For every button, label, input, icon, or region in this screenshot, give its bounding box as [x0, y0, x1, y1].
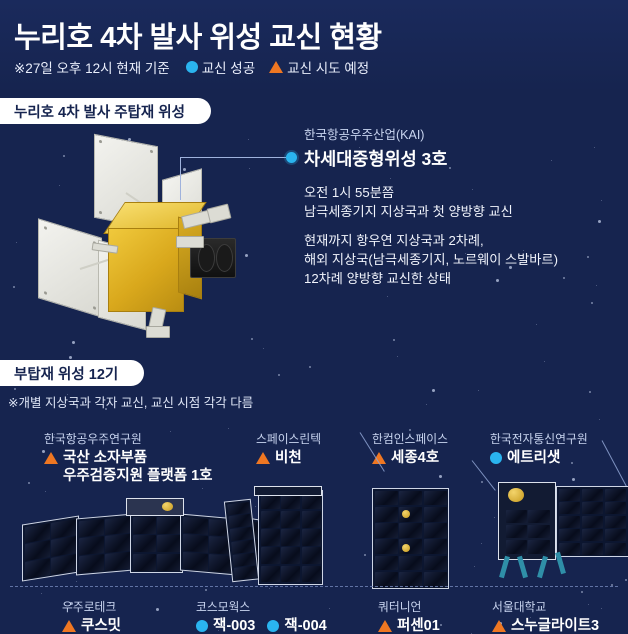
- sub-payload-note: ※개별 지상국과 각자 교신, 교신 시점 각각 다름: [8, 392, 253, 411]
- star: [269, 588, 270, 589]
- sub-name-kari: 국산 소자부품우주검증지원 플랫폼 1호: [63, 449, 213, 485]
- legend-planned-label: 교신 시도 예정: [287, 57, 369, 77]
- star: [76, 581, 77, 582]
- marker-triangle-icon-snuglite3: [492, 620, 506, 632]
- star: [478, 390, 479, 391]
- leader-line-etrisat-b: [602, 440, 627, 486]
- main-satellite-name: 차세대중형위성 3호: [304, 146, 622, 171]
- marker-triangle-icon-percen01: [378, 620, 392, 632]
- star: [599, 419, 600, 420]
- main-satellite-paragraph-1: 오전 1시 55분쯤 남극세종기지 지상국과 첫 양방향 교신: [304, 184, 622, 221]
- star: [393, 339, 395, 341]
- star: [13, 286, 15, 288]
- star: [41, 593, 42, 594]
- star: [228, 428, 229, 429]
- star: [591, 302, 593, 304]
- star: [494, 517, 495, 518]
- section-header-main-payload: 누리호 4차 발사 주탑재 위성: [0, 98, 211, 124]
- sub-org-spacelintec: 스페이스린텍: [256, 430, 321, 447]
- marker-circle-icon-jac003: [196, 620, 208, 632]
- callout-connector-horizontal: [180, 157, 286, 158]
- star: [601, 608, 602, 609]
- main-satellite-callout: 한국항공우주산업(KAI) 차세대중형위성 3호 오전 1시 55분쯤 남극세종…: [304, 124, 622, 300]
- legend-planned-triangle-icon: [269, 61, 283, 73]
- marker-triangle-icon-cusmit: [62, 620, 76, 632]
- star: [28, 482, 30, 484]
- main-satellite-paragraph-2: 현재까지 항우연 지상국과 2차례, 해외 지상국(남극세종기지, 노르웨이 스…: [304, 232, 622, 288]
- marker-triangle-icon-bicheon: [256, 452, 270, 464]
- sub-org-etri: 한국전자통신연구원: [490, 430, 588, 447]
- star: [156, 608, 159, 611]
- marker-triangle-icon-kari: [44, 452, 58, 464]
- star: [205, 589, 207, 591]
- sub-name-percen01: 퍼센01: [397, 617, 440, 634]
- sub-satellite-item-percen01: 쿼터니언 퍼센01: [378, 598, 440, 634]
- star: [481, 481, 483, 483]
- as-of-note: ※27일 오후 12시 현재 기준: [14, 57, 170, 77]
- sub-satellite-item-bicheon: 스페이스린텍 비천: [256, 430, 321, 467]
- main-paragraph1-line1: 오전 1시 55분쯤: [304, 184, 622, 203]
- legend-success-circle-icon: [186, 61, 198, 73]
- sub-name-jac004: 잭-004: [284, 617, 326, 634]
- star: [278, 374, 280, 376]
- star: [481, 543, 482, 544]
- legend: ※27일 오후 12시 현재 기준 교신 성공 교신 시도 예정: [14, 57, 379, 77]
- star: [14, 388, 16, 390]
- marker-circle-icon-etrisat: [490, 452, 502, 464]
- star: [474, 566, 475, 567]
- star: [440, 624, 442, 626]
- infographic-root: 누리호 4차 발사 위성 교신 현황 ※27일 오후 12시 현재 기준 교신 …: [0, 0, 628, 634]
- star: [432, 389, 435, 392]
- sub-org-hancom: 한컴인스페이스: [372, 430, 448, 447]
- sub-name-sejong4: 세종4호: [391, 449, 439, 467]
- star: [202, 488, 203, 489]
- star: [364, 554, 366, 556]
- sub-name-cusmit: 쿠스밋: [81, 617, 121, 634]
- star: [536, 324, 537, 325]
- star: [625, 579, 627, 581]
- star: [309, 366, 311, 368]
- star: [426, 404, 427, 405]
- main-paragraph2-line1: 현재까지 항우연 지상국과 2차례,: [304, 232, 622, 251]
- sub-satellite-item-etrisat: 한국전자통신연구원 에트리샛: [490, 430, 588, 467]
- callout-connector-dot-icon: [286, 152, 297, 163]
- legend-success-label: 교신 성공: [202, 57, 255, 77]
- main-paragraph2-line3: 12차례 양방향 교신한 상태: [304, 270, 622, 289]
- star: [581, 591, 583, 593]
- callout-connector-vertical: [180, 158, 181, 200]
- star: [544, 361, 545, 362]
- main-satellite-org: 한국항공우주산업(KAI): [304, 124, 622, 143]
- sub-satellite-item-cosmoworks: 코스모웍스 잭-003 잭-004: [196, 598, 327, 634]
- star: [397, 356, 398, 357]
- star: [439, 475, 442, 478]
- star: [572, 478, 575, 481]
- sub-org-cosmoworks: 코스모웍스: [196, 598, 327, 615]
- sub-org-woojurotech: 우주로테크: [62, 598, 121, 615]
- star: [471, 633, 472, 634]
- sub-org-snu: 서울대학교: [492, 598, 599, 615]
- sub-name-etrisat: 에트리샛: [507, 449, 560, 467]
- main-paragraph2-line2: 해외 지상국(남극세종기지, 노르웨이 스발바르): [304, 251, 622, 270]
- section-header-sub-payload: 부탑재 위성 12기: [0, 360, 144, 386]
- sub-satellite-item-cusmit: 우주로테크 쿠스밋: [62, 598, 121, 634]
- star: [329, 608, 330, 609]
- star: [589, 391, 591, 393]
- star: [69, 356, 72, 359]
- marker-circle-icon-jac004: [267, 620, 279, 632]
- page-title: 누리호 4차 발사 위성 교신 현황: [14, 14, 382, 56]
- sub-name-jac003: 잭-003: [213, 617, 255, 634]
- sub-satellite-item-sejong4: 한컴인스페이스 세종4호: [372, 430, 448, 467]
- sub-name-snuglite3: 스누글라이트3: [511, 617, 599, 634]
- sub-org-quaternion: 쿼터니언: [378, 598, 440, 615]
- sub-satellite-item-kari: 한국항공우주연구원 국산 소자부품우주검증지원 플랫폼 1호: [44, 430, 213, 485]
- star: [45, 491, 46, 492]
- star: [16, 242, 17, 243]
- main-satellite-image: [22, 140, 272, 355]
- sub-org-kari: 한국항공우주연구원: [44, 430, 213, 447]
- row-divider: [10, 586, 618, 587]
- sub-name-bicheon: 비천: [275, 449, 302, 467]
- main-paragraph1-line2: 남극세종기지 지상국과 첫 양방향 교신: [304, 203, 622, 222]
- sub-satellite-item-snuglite3: 서울대학교 스누글라이트3: [492, 598, 599, 634]
- star: [255, 506, 256, 507]
